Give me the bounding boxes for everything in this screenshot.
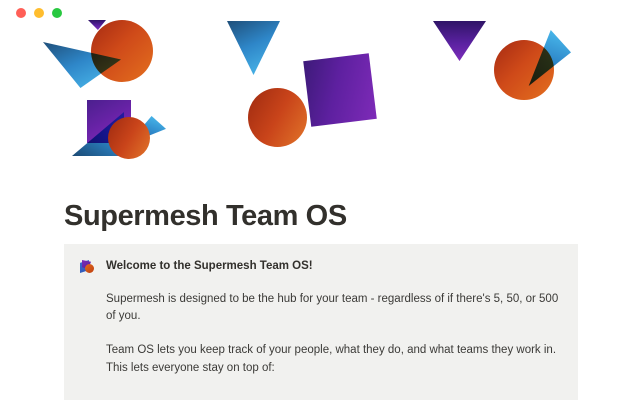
app-window: Supermesh Team OS Welcome to the Superme…: [0, 0, 640, 400]
callout-header: Welcome to the Supermesh Team OS!: [80, 258, 562, 275]
callout-body: Supermesh is designed to be the hub for …: [80, 291, 562, 400]
maximize-button[interactable]: [52, 8, 62, 18]
cover-shape-square-purple-2: [303, 53, 377, 127]
close-button[interactable]: [16, 8, 26, 18]
welcome-callout[interactable]: Welcome to the Supermesh Team OS! Superm…: [64, 244, 578, 400]
callout-paragraph: Team OS lets you keep track of your peop…: [106, 342, 562, 378]
callout-title: Welcome to the Supermesh Team OS!: [106, 258, 313, 275]
callout-paragraph: Supermesh is designed to be the hub for …: [106, 291, 562, 327]
page-title: Supermesh Team OS: [64, 200, 347, 233]
cover-shape-triangle-purple-2: [433, 21, 486, 61]
cover-shape-triangle-blue-4: [227, 21, 280, 75]
cover-shape-circle-orange-3: [248, 88, 307, 147]
supermesh-logo-icon: [80, 260, 94, 274]
window-controls: [16, 8, 62, 18]
cover-banner[interactable]: [0, 0, 640, 185]
cover-shape-circle-orange-2: [108, 117, 150, 159]
minimize-button[interactable]: [34, 8, 44, 18]
